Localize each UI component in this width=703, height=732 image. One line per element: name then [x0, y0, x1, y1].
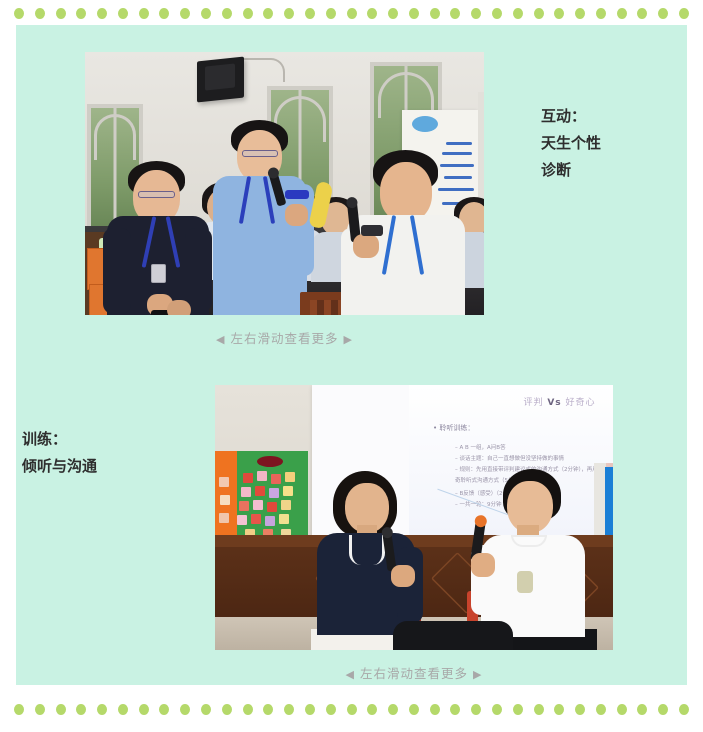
label-line-1: 训练：	[22, 426, 97, 453]
decorative-dot	[139, 704, 149, 715]
bottom-dot-divider	[0, 700, 703, 718]
swipe-hint-text: 左右滑动查看更多	[230, 331, 338, 346]
decorative-dot	[243, 704, 253, 715]
decorative-dot	[284, 8, 294, 19]
decorative-dot	[617, 8, 627, 19]
decorative-dot	[513, 8, 523, 19]
decorative-dot	[658, 8, 668, 19]
decorative-dot	[492, 8, 502, 19]
swipe-hint-1: ◀ 左右滑动查看更多 ▶	[85, 328, 484, 347]
label-line-1: 互动：	[541, 103, 601, 130]
decorative-dot	[326, 8, 336, 19]
decorative-dot	[554, 8, 564, 19]
decorative-dot	[430, 8, 440, 19]
swipe-left-arrow-icon: ◀	[216, 333, 225, 346]
decorative-dot	[388, 704, 398, 715]
decorative-dot	[554, 704, 564, 715]
slide-bullet: • 聆听训练：	[433, 423, 474, 433]
decorative-dot	[471, 704, 481, 715]
decorative-dot	[263, 8, 273, 19]
decorative-dot	[347, 8, 357, 19]
decorative-dot	[76, 8, 86, 19]
blue-wall-panel	[605, 467, 613, 543]
decorative-dot	[222, 8, 232, 19]
decorative-dot	[367, 8, 377, 19]
swipe-left-arrow-icon: ◀	[346, 668, 355, 681]
decorative-dot	[388, 8, 398, 19]
sticky-note-poster	[215, 451, 308, 541]
decorative-dot	[263, 704, 273, 715]
section-interaction-label: 互动： 天生个性 诊断	[541, 103, 601, 184]
decorative-dot	[180, 8, 190, 19]
decorative-dot	[56, 8, 66, 19]
decorative-dot	[471, 8, 481, 19]
decorative-dot	[596, 704, 606, 715]
decorative-dot	[637, 8, 647, 19]
man-hand	[471, 553, 495, 577]
decorative-dot	[658, 704, 668, 715]
decorative-dot	[513, 704, 523, 715]
decorative-dot	[679, 704, 689, 715]
tshirt-logo	[517, 571, 533, 593]
decorative-dot	[97, 704, 107, 715]
decorative-dot	[201, 8, 211, 19]
slide-sub-2: – 谈话主题：自己一直想做但没坚持做的事情	[455, 454, 564, 462]
decorative-dot	[679, 8, 689, 19]
decorative-dot	[97, 8, 107, 19]
decorative-dot	[326, 704, 336, 715]
slide-title: 评判 Vs 好奇心	[409, 395, 613, 408]
decorative-dot	[35, 704, 45, 715]
decorative-dot	[450, 8, 460, 19]
decorative-dot	[118, 704, 128, 715]
decorative-dot	[35, 8, 45, 19]
decorative-dot	[450, 704, 460, 715]
decorative-dot	[56, 704, 66, 715]
decorative-dot	[159, 704, 169, 715]
decorative-dot	[201, 704, 211, 715]
decorative-dot	[409, 8, 419, 19]
decorative-dot	[492, 704, 502, 715]
photo-1-scene	[85, 52, 484, 315]
foreground-silhouette	[393, 621, 513, 650]
decorative-dot	[243, 8, 253, 19]
decorative-dot	[118, 8, 128, 19]
decorative-dot	[430, 704, 440, 715]
decorative-dot	[534, 704, 544, 715]
label-line-2: 天生个性	[541, 130, 601, 157]
decorative-dot	[367, 704, 377, 715]
decorative-dot	[534, 8, 544, 19]
content-card: 互动： 天生个性 诊断 ◀ 左右滑动查看更多 ▶ 训练： 倾听与沟通 评	[16, 25, 687, 685]
swipe-hint-2: ◀ 左右滑动查看更多 ▶	[215, 663, 613, 682]
decorative-dot	[409, 704, 419, 715]
decorative-dot	[284, 704, 294, 715]
slide-sub-1: – A B 一组，A问B答	[455, 443, 506, 451]
decorative-dot	[347, 704, 357, 715]
decorative-dot	[139, 8, 149, 19]
decorative-dot	[14, 704, 24, 715]
woman-hand	[391, 565, 415, 587]
label-line-3: 诊断	[541, 157, 601, 184]
swipe-right-arrow-icon: ▶	[343, 333, 352, 346]
decorative-dot	[637, 704, 647, 715]
decorative-dot	[14, 8, 24, 19]
ceiling-speaker	[197, 57, 244, 103]
swipe-right-arrow-icon: ▶	[473, 668, 482, 681]
decorative-dot	[575, 704, 585, 715]
section-training-label: 训练： 倾听与沟通	[22, 426, 97, 480]
photo-2-scene: 评判 Vs 好奇心 • 聆听训练： – A B 一组，A问B答 – 谈话主题：自…	[215, 385, 613, 650]
woman-collar	[349, 535, 385, 565]
decorative-dot	[305, 8, 315, 19]
decorative-dot	[575, 8, 585, 19]
listening-training-photo[interactable]: 评判 Vs 好奇心 • 聆听训练： – A B 一组，A问B答 – 谈话主题：自…	[215, 385, 613, 650]
speaker-cable	[243, 58, 285, 82]
decorative-dot	[76, 704, 86, 715]
swipe-hint-text: 左右滑动查看更多	[360, 666, 468, 681]
decorative-dot	[617, 704, 627, 715]
decorative-dot	[596, 8, 606, 19]
top-dot-divider	[0, 4, 703, 22]
decorative-dot	[180, 704, 190, 715]
decorative-dot	[305, 704, 315, 715]
label-line-2: 倾听与沟通	[22, 453, 97, 480]
decorative-dot	[222, 704, 232, 715]
decorative-dot	[159, 8, 169, 19]
workshop-group-photo[interactable]	[85, 52, 484, 315]
